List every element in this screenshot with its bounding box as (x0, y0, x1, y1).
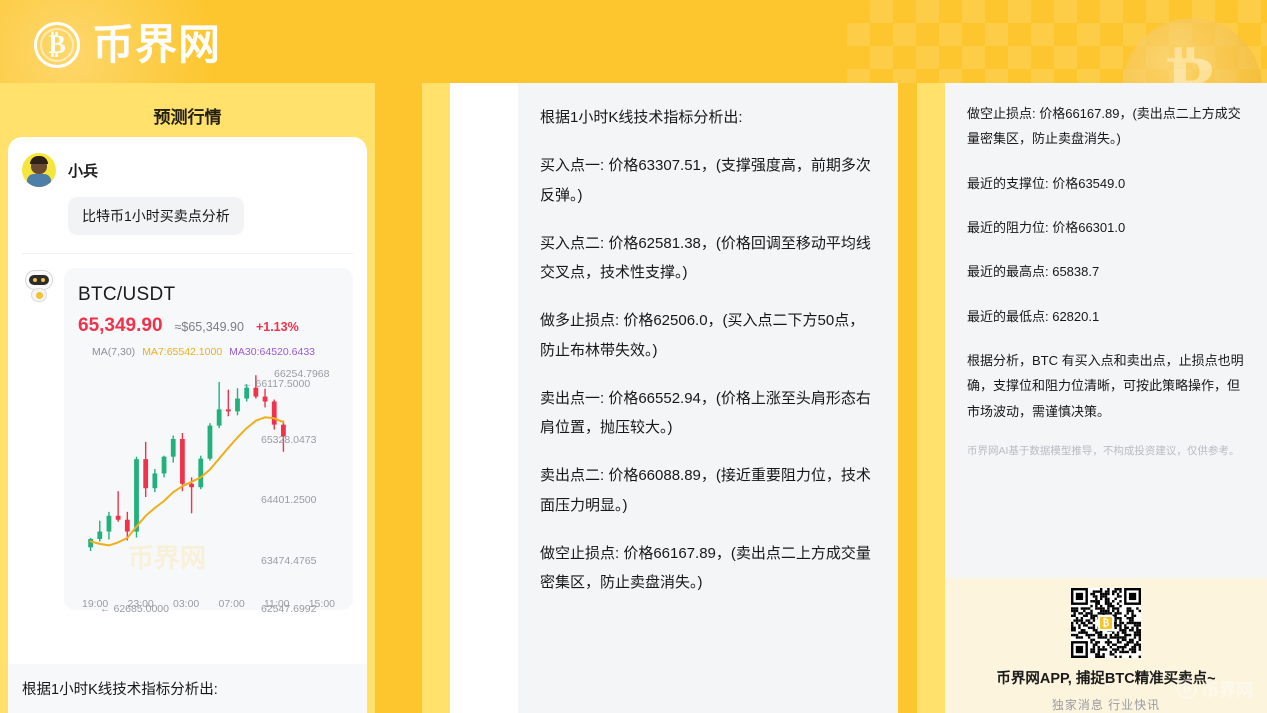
candlestick-chart[interactable]: 币界网 66254.796866117.500065328.047364401.… (78, 360, 339, 610)
trading-pair: BTC/USDT (78, 284, 339, 306)
quote-card[interactable]: BTC/USDT 65,349.90 ≈$65,349.90 +1.13% MA… (64, 268, 353, 610)
middle-page-card: 根据1小时K线技术指标分析出:买入点一: 价格63307.51，(支撑强度高，前… (450, 83, 898, 713)
paragraph: 最近的支撑位: 价格63549.0 (967, 171, 1245, 196)
paragraph: 最近的最低点: 62820.1 (967, 304, 1245, 329)
user-message-bubble: 比特币1小时买卖点分析 (68, 197, 244, 235)
paragraph: 买入点一: 价格63307.51，(支撑强度高，前期多次反弹。) (540, 151, 874, 210)
price-change-percent: +1.13% (256, 320, 299, 334)
chart-svg (78, 360, 367, 592)
section-title: 预测行情 (0, 83, 375, 128)
poster-root: ₿ ₿ 币界网 预测行情 小兵 比特币1小时买卖点分析 (0, 0, 1267, 713)
promo-subtitle: 独家消息 行业快讯 (1052, 696, 1160, 713)
left-column: 预测行情 小兵 比特币1小时买卖点分析 BTC/USDT (0, 83, 375, 713)
logo-text: 币界网 (92, 24, 221, 66)
paragraph: 卖出点二: 价格66088.89，(接近重要阻力位，技术面压力明显。) (540, 461, 874, 520)
user-row: 小兵 (8, 137, 367, 187)
paragraph: 卖出点一: 价格66552.94，(价格上涨至头肩形态右肩位置，抛压较大。) (540, 384, 874, 443)
robot-icon (24, 268, 54, 302)
chart-price-label: 64401.2500 (261, 494, 316, 506)
watermark-text: 币界网 (1202, 676, 1253, 701)
paragraph: 最近的阻力位: 价格66301.0 (967, 215, 1245, 240)
paragraph: 做多止损点: 价格62506.0，(买入点二下方50点，防止布林带失效。) (540, 306, 874, 365)
x-axis-tick: 07:00 (219, 598, 245, 610)
x-axis-tick: 19:00 (82, 598, 108, 610)
qr-code[interactable]: ₿ (1071, 588, 1141, 658)
chat-card: 小兵 比特币1小时买卖点分析 BTC/USDT 65,349.90 ≈$65,3… (8, 137, 367, 713)
chart-price-label: 65328.0473 (261, 434, 316, 446)
chart-price-label: 63474.4765 (261, 555, 316, 567)
x-axis-tick: 15:00 (309, 598, 335, 610)
paragraph: 根据1小时K线技术指标分析出: (540, 103, 874, 132)
price-value: 65,349.90 (78, 315, 163, 337)
ma-legend: MA(7,30) MA7:65542.1000 MA30:64520.6433 (78, 346, 339, 358)
paragraph: 根据分析，BTC 有买入点和卖出点，止损点也明确，支撑位和阻力位清晰，可按此策略… (967, 348, 1245, 424)
paragraph: 最近的最高点: 65838.7 (967, 259, 1245, 284)
user-name: 小兵 (68, 160, 98, 181)
chart-x-axis: 19:0023:0003:0007:0011:0015:00 (78, 598, 339, 610)
site-logo[interactable]: ₿ 币界网 (34, 22, 221, 68)
disclaimer: 币界网AI基于数据模型推导，不构成投资建议，仅供参考。 (967, 443, 1245, 460)
x-axis-tick: 03:00 (173, 598, 199, 610)
ma-legend-label: MA(7,30) (92, 346, 135, 358)
chart-price-label: 66117.5000 (242, 378, 310, 390)
x-axis-tick: 23:00 (128, 598, 154, 610)
qr-center-logo: ₿ (1098, 615, 1114, 631)
header-band: ₿ ₿ 币界网 (0, 0, 1267, 83)
logo-bitcoin-symbol: ₿ (48, 32, 65, 58)
card-footer-text: 根据1小时K线技术指标分析出: (8, 664, 367, 713)
watermark-bitcoin-icon: ₿ (1177, 679, 1197, 699)
avatar (22, 153, 56, 187)
middle-text-body: 根据1小时K线技术指标分析出:买入点一: 价格63307.51，(支撑强度高，前… (518, 83, 898, 713)
right-left-strip (917, 83, 945, 713)
price-row: 65,349.90 ≈$65,349.90 +1.13% (78, 315, 339, 337)
ma30-legend: MA30:64520.6433 (229, 346, 315, 358)
paragraph: 买入点二: 价格62581.38，(价格回调至移动平均线交叉点，技术性支撑。) (540, 229, 874, 288)
ma7-legend: MA7:65542.1000 (142, 346, 222, 358)
paragraph: 做空止损点: 价格66167.89，(卖出点二上方成交量密集区，防止卖盘消失。) (540, 539, 874, 598)
price-usd-value: ≈$65,349.90 (175, 320, 244, 334)
paragraph: 做空止损点: 价格66167.89，(卖出点二上方成交量密集区，防止卖盘消失。) (967, 101, 1245, 152)
x-axis-tick: 11:00 (264, 598, 290, 610)
bot-reply-row: BTC/USDT 65,349.90 ≈$65,349.90 +1.13% MA… (8, 254, 367, 610)
bottom-watermark: ₿ 币界网 (1177, 676, 1253, 701)
middle-left-strip (422, 83, 450, 713)
logo-bitcoin-icon: ₿ (34, 22, 80, 68)
bitcoin-symbol: ₿ (1166, 45, 1218, 83)
